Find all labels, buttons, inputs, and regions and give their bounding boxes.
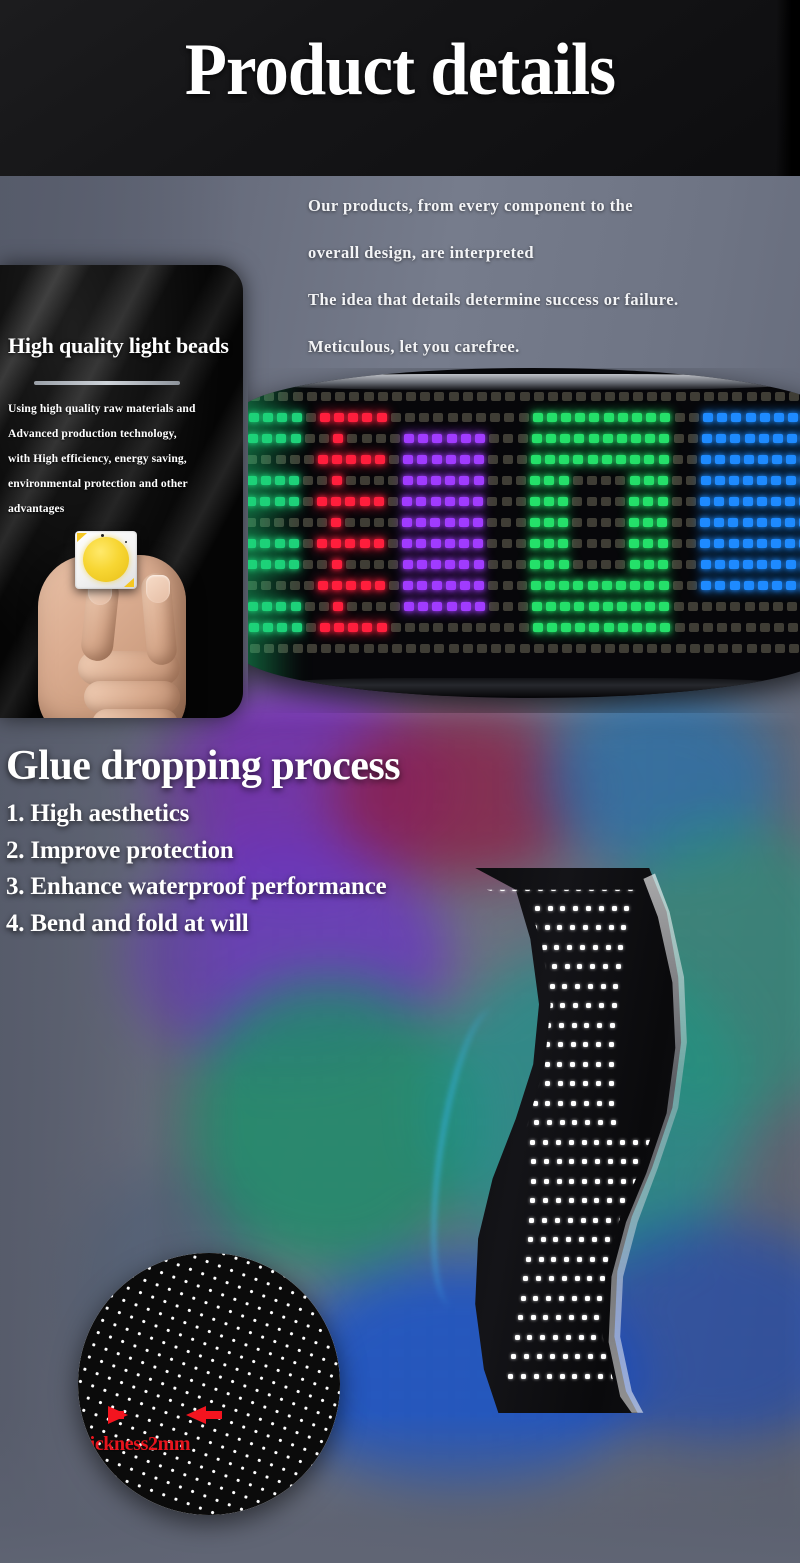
- cob-led-chip: [75, 531, 137, 589]
- glue-section-title: Glue dropping process: [6, 742, 626, 790]
- flexible-led-banner-display: [248, 368, 800, 713]
- thickness-arrow-left-pointing-icon: [186, 1406, 206, 1424]
- led-panel-body: [248, 368, 800, 698]
- intro-line: Meticulous, let you carefree.: [308, 323, 800, 370]
- thickness-label: Thickness2mm: [78, 1433, 190, 1456]
- thickness-arrow-right-pointing-icon: [108, 1406, 128, 1424]
- body-line: with High efficiency, energy saving,: [8, 446, 238, 471]
- list-item: 1. High aesthetics: [6, 796, 626, 833]
- body-line: environmental protection and other: [8, 471, 238, 496]
- page-title: Product details: [28, 28, 772, 113]
- magnified-panel-section: [78, 1253, 340, 1515]
- body-line: Advanced production technology,: [8, 421, 238, 446]
- product-details-page: Product details Our products, from every…: [0, 0, 800, 1563]
- intro-line: Our products, from every component to th…: [308, 182, 800, 229]
- led-left-glow: [248, 368, 300, 698]
- led-panel-top-edge: [248, 374, 800, 390]
- title-divider: [34, 381, 180, 385]
- hand-holding-led-chip-photo: [0, 515, 243, 718]
- magnified-dot-pattern: [78, 1253, 340, 1515]
- intro-line: The idea that details determine success …: [308, 276, 800, 323]
- body-line: Using high quality raw materials and: [8, 396, 238, 421]
- light-beads-title: High quality light beads: [8, 333, 243, 359]
- s-curved-flexible-panel: [452, 868, 742, 1413]
- led-pixel-grid: [248, 392, 800, 670]
- header-banner: Product details: [0, 0, 800, 176]
- thickness-magnifier-circle: Thickness2mm: [78, 1253, 340, 1515]
- intro-copy: Our products, from every component to th…: [308, 182, 800, 370]
- light-beads-body: Using high quality raw materials and Adv…: [8, 396, 238, 521]
- intro-line: overall design, are interpreted: [308, 229, 800, 276]
- banner-edge-shadow: [776, 0, 800, 176]
- led-panel-bottom-edge: [248, 678, 800, 696]
- list-item: 2. Improve protection: [6, 833, 626, 870]
- light-beads-card: High quality light beads Using high qual…: [0, 265, 243, 718]
- chip-phosphor-disc: [83, 537, 129, 582]
